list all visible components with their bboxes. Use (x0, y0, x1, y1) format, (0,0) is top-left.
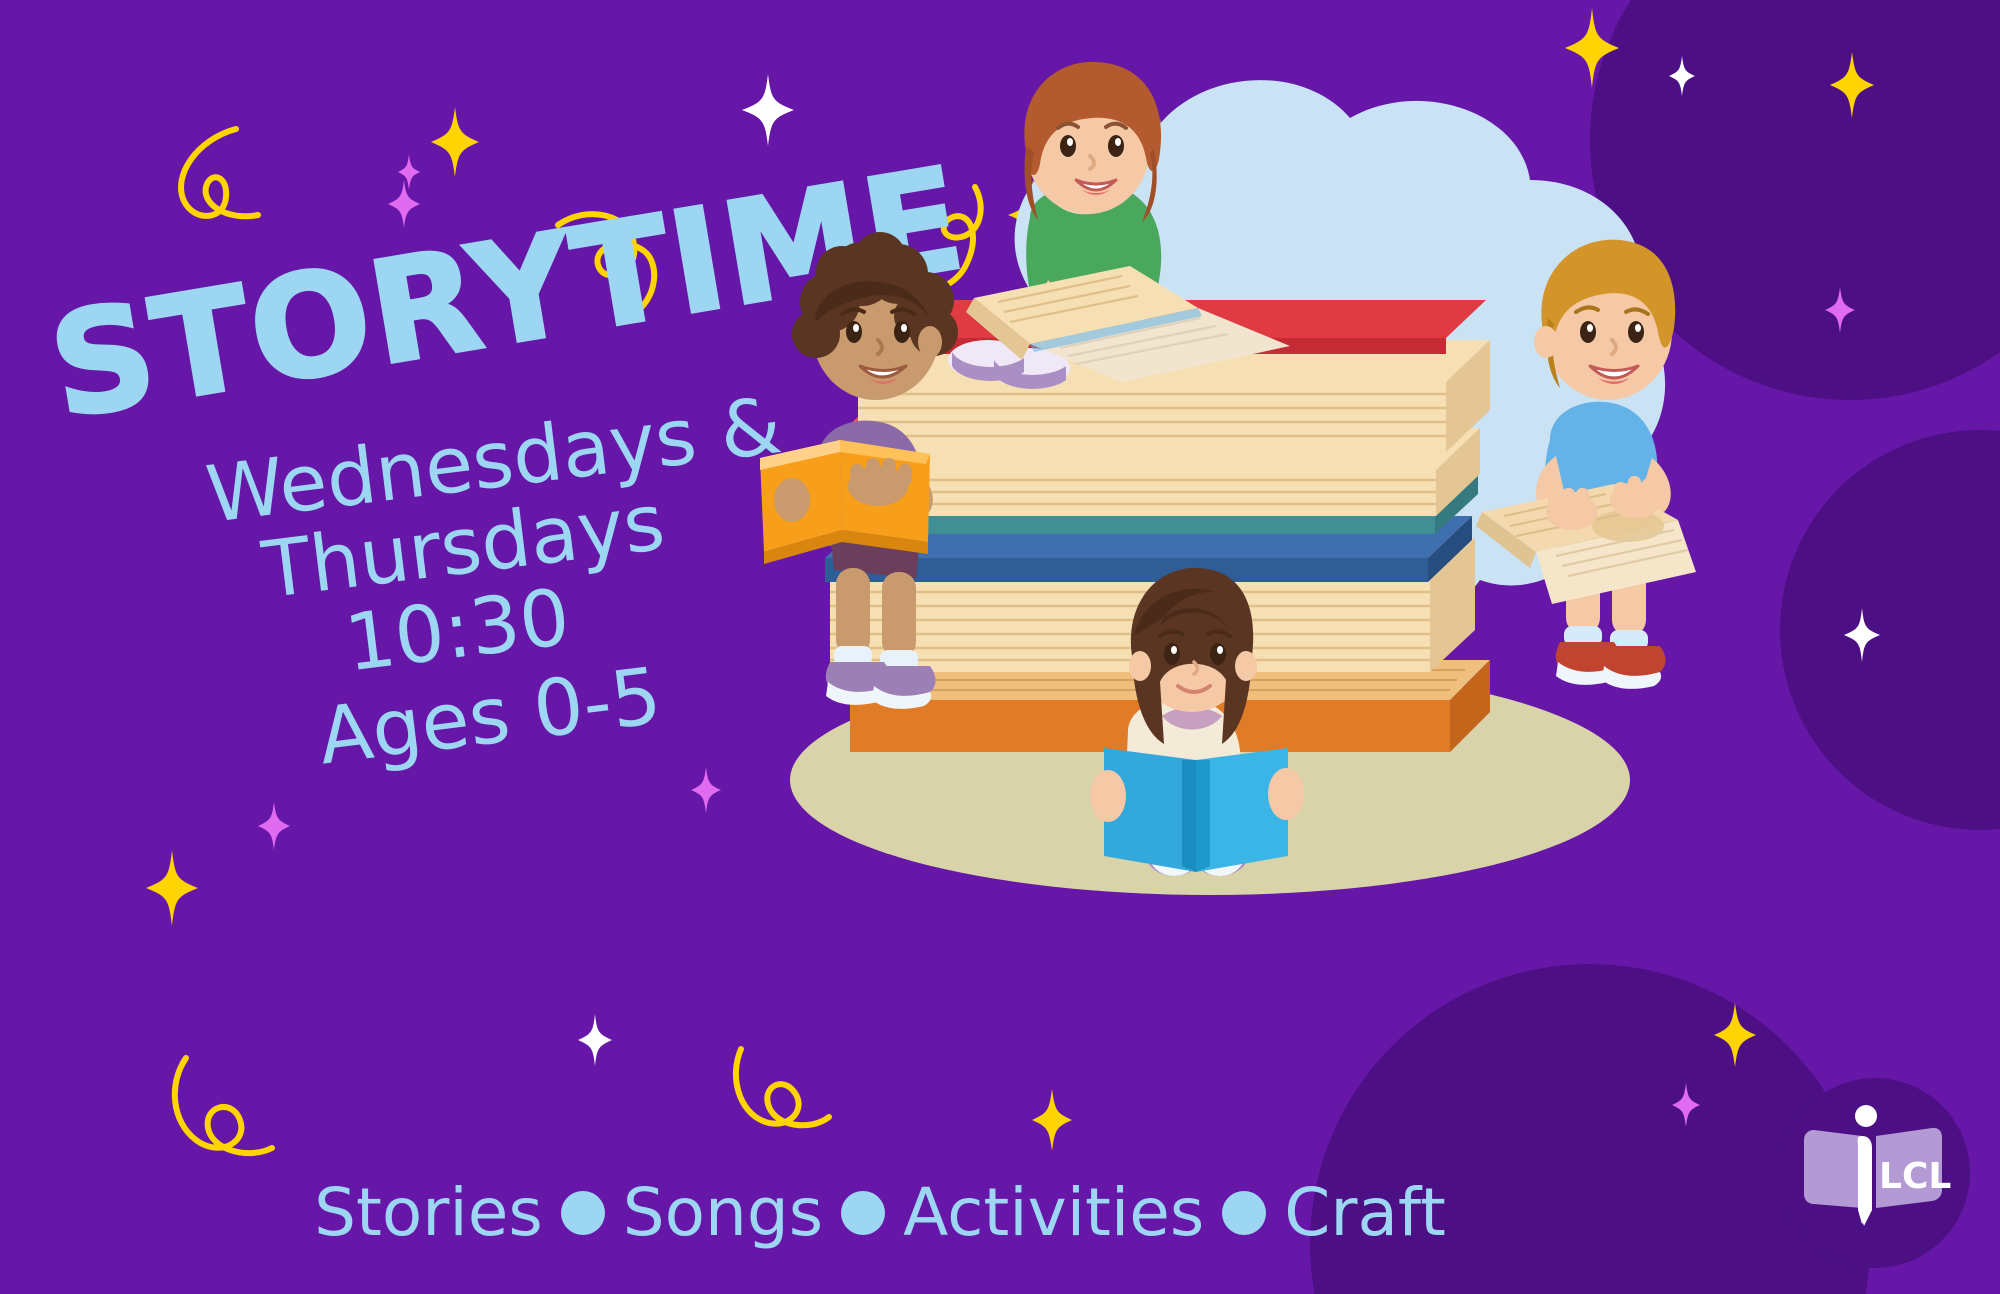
separator-dot-icon (841, 1191, 885, 1235)
sparkle-icon (1670, 1083, 1702, 1127)
lcl-logo: LCL (1780, 1078, 1970, 1268)
storytime-poster: STORYTIME Wednesdays & Thursdays 10:30 A… (0, 0, 2000, 1294)
sparkle-icon (256, 802, 292, 850)
feature-craft: Craft (1284, 1180, 1446, 1246)
separator-dot-icon (1222, 1191, 1266, 1235)
logo-figure-head (1855, 1105, 1877, 1127)
sparkle-icon (1842, 608, 1882, 662)
logo-text: LCL (1879, 1156, 1951, 1197)
children-reading-illustration (730, 60, 1730, 940)
decor-circle-mid-right (1780, 430, 2000, 830)
sparkle-icon (143, 850, 201, 926)
feature-stories: Stories (314, 1180, 543, 1246)
squiggle-icon (164, 1050, 284, 1170)
blue-open-book (1104, 748, 1288, 872)
text-block: STORYTIME Wednesdays & Thursdays 10:30 A… (0, 150, 820, 790)
feature-songs: Songs (623, 1180, 823, 1246)
features-strip: Stories Songs Activities Craft (0, 1180, 2000, 1246)
sparkle-icon (1711, 1003, 1759, 1067)
logo-book-left-page (1804, 1130, 1862, 1208)
separator-dot-icon (561, 1191, 605, 1235)
sparkle-icon (1827, 52, 1877, 118)
sparkle-icon (1029, 1089, 1075, 1151)
feature-activities: Activities (903, 1180, 1204, 1246)
squiggle-icon (727, 1035, 837, 1145)
sparkle-icon (576, 1014, 614, 1066)
sparkle-icon (1823, 287, 1857, 333)
